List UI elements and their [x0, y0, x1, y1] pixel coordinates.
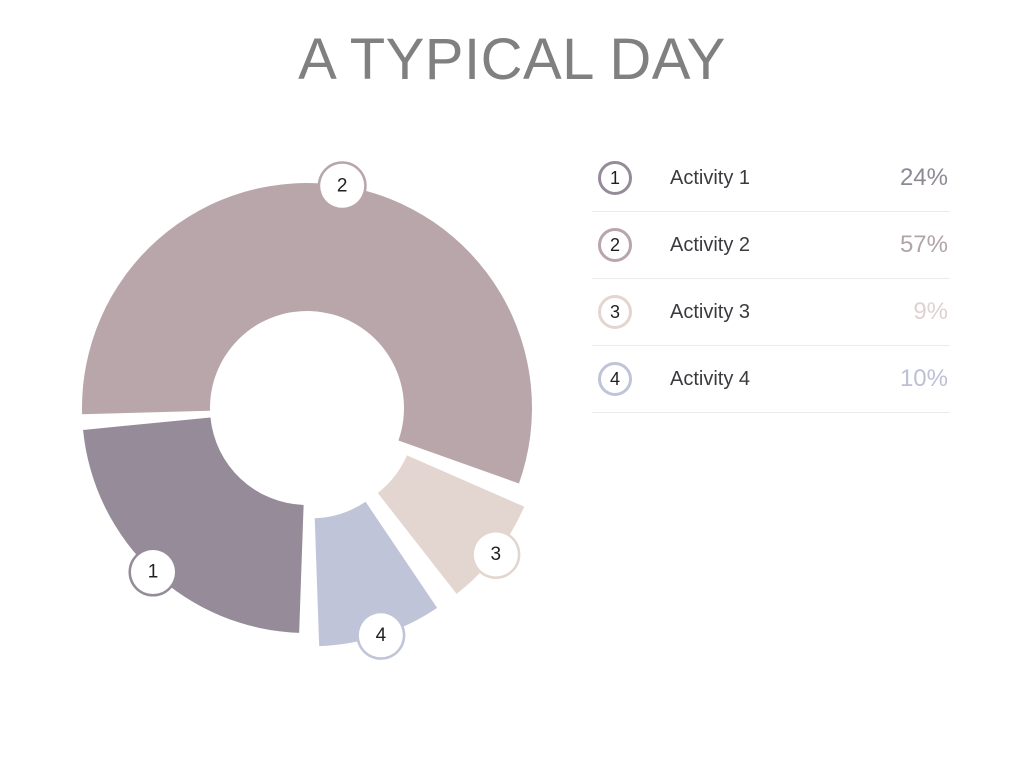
donut-marker-3[interactable]: 3 [473, 531, 519, 577]
donut-marker-2[interactable]: 2 [319, 163, 365, 209]
slide-canvas: A TYPICAL DAY 1 2 [0, 0, 1024, 768]
donut-marker-1-label: 1 [148, 562, 159, 583]
legend-percent-activity-4: 10% [900, 365, 950, 393]
donut-marker-2-label: 2 [337, 175, 348, 196]
legend-marker-2-label: 2 [610, 236, 620, 254]
legend-marker-3-icon: 3 [598, 295, 632, 329]
legend-row-activity-1[interactable]: 1 Activity 1 24% [592, 145, 950, 212]
donut-marker-3-label: 3 [491, 544, 502, 565]
legend-marker-4-label: 4 [610, 370, 620, 388]
legend-percent-activity-3: 9% [913, 298, 950, 326]
legend-row-activity-4[interactable]: 4 Activity 4 10% [592, 346, 950, 413]
legend-percent-activity-1: 24% [900, 164, 950, 192]
legend-row-activity-2[interactable]: 2 Activity 2 57% [592, 212, 950, 279]
legend-marker-1-icon: 1 [598, 161, 632, 195]
legend-label-activity-2: Activity 2 [670, 234, 900, 257]
legend-label-activity-3: Activity 3 [670, 301, 913, 324]
legend-marker-2-icon: 2 [598, 228, 632, 262]
legend-marker-3-label: 3 [610, 303, 620, 321]
donut-marker-4-label: 4 [376, 625, 387, 646]
legend-label-activity-4: Activity 4 [670, 368, 900, 391]
legend-percent-activity-2: 57% [900, 231, 950, 259]
donut-slice-activity-1[interactable] [83, 417, 304, 632]
chart-legend: 1 Activity 1 24% 2 Activity 2 57% 3 Acti… [592, 145, 950, 413]
donut-chart: 1 2 3 4 [40, 155, 580, 675]
legend-marker-4-icon: 4 [598, 362, 632, 396]
donut-marker-4[interactable]: 4 [358, 612, 404, 658]
donut-chart-svg: 1 2 3 4 [40, 155, 580, 675]
page-title: A TYPICAL DAY [0, 28, 1024, 92]
donut-marker-1[interactable]: 1 [130, 549, 176, 595]
legend-label-activity-1: Activity 1 [670, 167, 900, 190]
legend-row-activity-3[interactable]: 3 Activity 3 9% [592, 279, 950, 346]
legend-marker-1-label: 1 [610, 169, 620, 187]
